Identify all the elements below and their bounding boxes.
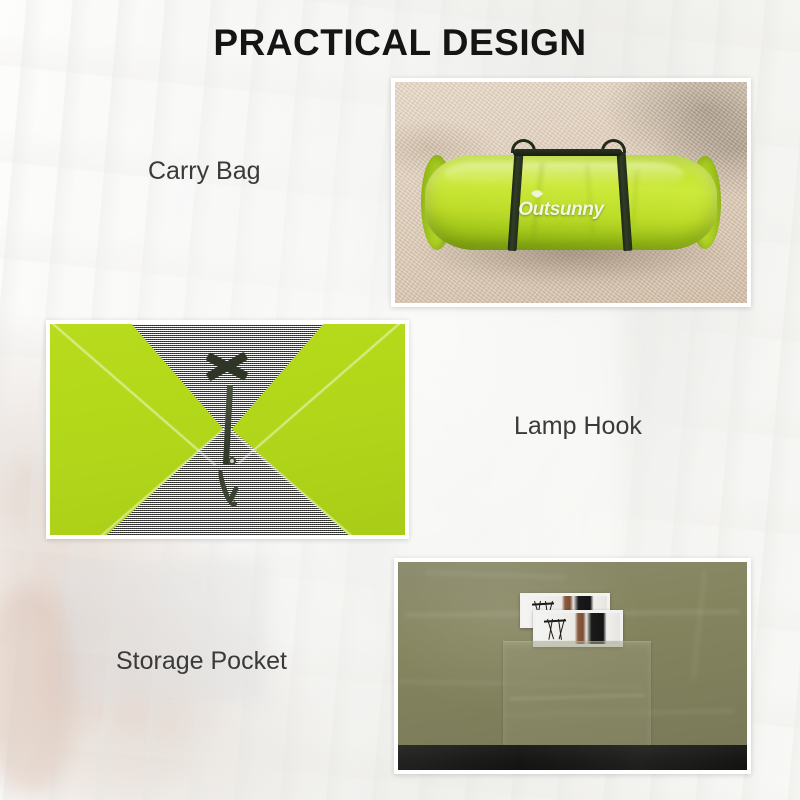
- brand-logo-text: Outsunny: [518, 199, 603, 221]
- cross-strap-patch: [206, 343, 249, 389]
- storage-pocket-photo: [394, 558, 751, 774]
- tent-floor-sheen: [398, 745, 747, 770]
- feature-label-carry-bag: Carry Bag: [148, 157, 261, 186]
- pocket-fold: [509, 694, 645, 700]
- storage-pocket-panel: [503, 641, 651, 760]
- hook-ring: [228, 457, 236, 465]
- frame-artwork-lines: [542, 619, 571, 640]
- page-title: PRACTICAL DESIGN: [0, 22, 800, 64]
- lamp-hook-photo: [46, 320, 409, 539]
- hook-icon: [219, 455, 240, 514]
- feature-label-lamp-hook: Lamp Hook: [514, 412, 642, 441]
- hook-curve: [215, 463, 242, 509]
- feature-label-storage-pocket: Storage Pocket: [116, 647, 287, 676]
- product-feature-infographic: PRACTICAL DESIGN: [0, 0, 800, 800]
- sunburst-icon: [523, 185, 549, 197]
- bag-highlight: [444, 162, 683, 186]
- bag-handle: [513, 149, 622, 155]
- carry-bag-photo: Outsunny: [391, 78, 751, 307]
